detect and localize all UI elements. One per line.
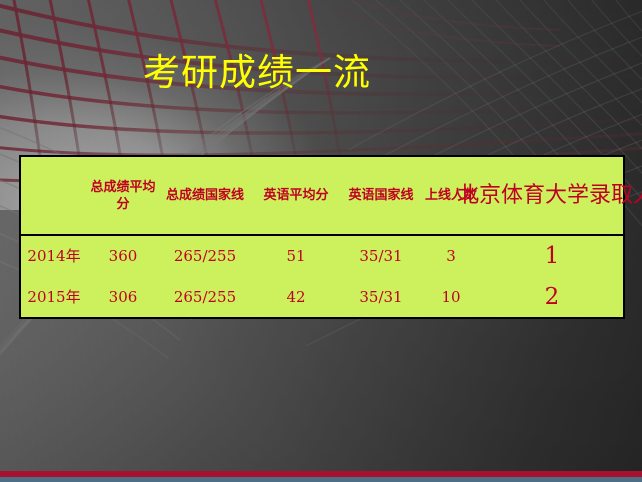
header-cell-avg-total: 总成绩平均分 [87,157,159,235]
header-cell-avg-english: 英语平均分 [251,157,341,235]
table-row: 2015年 306 265/255 42 35/31 10 2 [21,276,623,317]
slide-title: 考研成绩一流 [143,50,371,96]
cell-avg-total: 360 [87,235,159,276]
header-cell-national-english-line: 英语国家线 [341,157,421,235]
grades-table-container: 总成绩平均分 总成绩国家线 英语平均分 英语国家线 上线人数 北京体育大学录取人… [19,155,625,319]
cell-bsu-admitted: 1 [481,235,623,276]
cell-above-line-count: 10 [421,276,481,317]
table-body: 2014年 360 265/255 51 35/31 3 1 2015年 306… [21,235,623,317]
cell-national-total-line: 265/255 [159,235,251,276]
cell-national-total-line: 265/255 [159,276,251,317]
cell-above-line-count: 3 [421,235,481,276]
cell-year: 2014年 [21,235,87,276]
header-cell-year [21,157,87,235]
footer-bar [0,477,642,482]
grades-table: 总成绩平均分 总成绩国家线 英语平均分 英语国家线 上线人数 北京体育大学录取人… [21,157,623,317]
cell-avg-english: 51 [251,235,341,276]
table-row: 2014年 360 265/255 51 35/31 3 1 [21,235,623,276]
header-cell-bsu-admitted: 北京体育大学录取人数 [481,157,623,235]
header-cell-bsu-admitted-text: 北京体育大学录取人数 [457,183,642,208]
cell-avg-total: 306 [87,276,159,317]
table-header: 总成绩平均分 总成绩国家线 英语平均分 英语国家线 上线人数 北京体育大学录取人… [21,157,623,235]
header-row: 总成绩平均分 总成绩国家线 英语平均分 英语国家线 上线人数 北京体育大学录取人… [21,157,623,235]
cell-bsu-admitted: 2 [481,276,623,317]
presentation-slide: 考研成绩一流 总成绩平均分 总成绩国家线 英语平均分 英语国家线 上线人数 北京… [0,0,642,482]
cell-avg-english: 42 [251,276,341,317]
cell-national-english-line: 35/31 [341,235,421,276]
header-cell-national-total-line: 总成绩国家线 [159,157,251,235]
cell-year: 2015年 [21,276,87,317]
cell-national-english-line: 35/31 [341,276,421,317]
